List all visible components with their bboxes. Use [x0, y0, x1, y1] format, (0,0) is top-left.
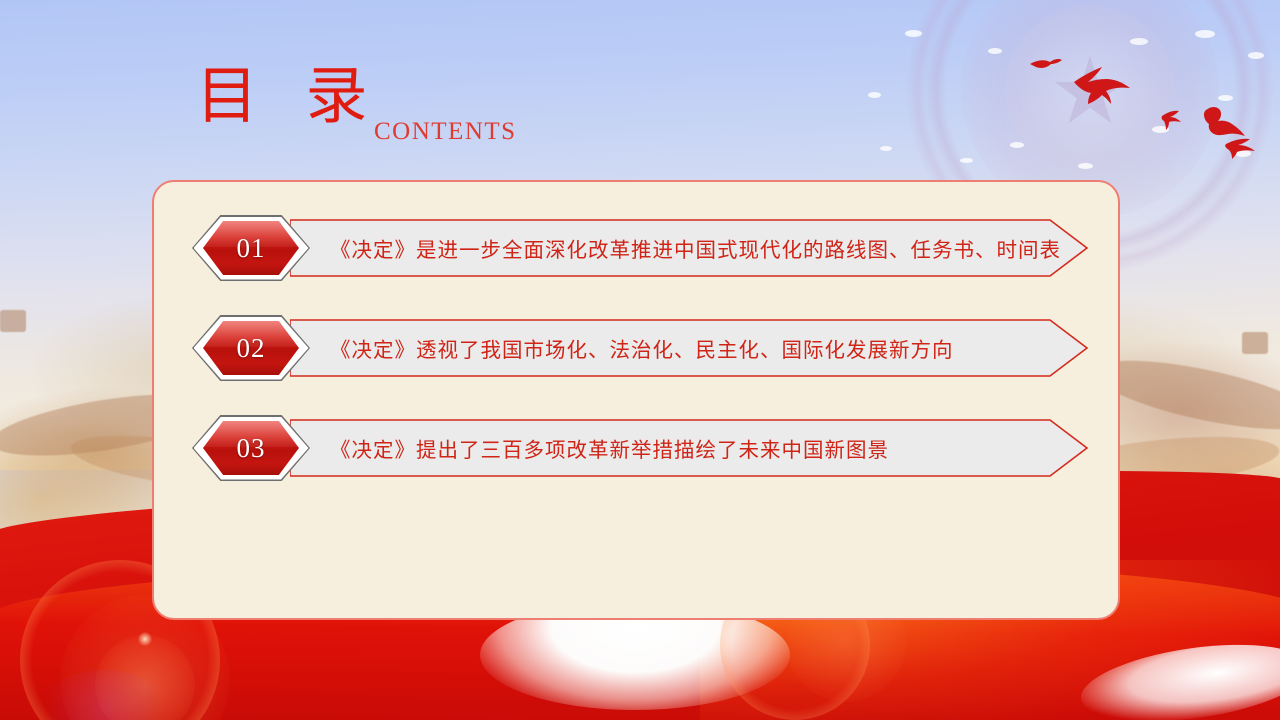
bird-icon: [1162, 111, 1181, 130]
lens-flare-violet: [40, 670, 170, 720]
presentation-slide: 目 录 CONTENTS 01 《决定》是进一步全面深化改革推进: [0, 0, 1280, 720]
item-number-badge: 01: [192, 215, 310, 281]
white-swoosh-highlight: [1076, 632, 1280, 720]
speckle-dot: [1152, 126, 1169, 133]
emblem-core-glow: [1005, 5, 1175, 175]
star-icon: [1053, 56, 1127, 130]
list-item[interactable]: 02 《决定》透视了我国市场化、法治化、民主化、国际化发展新方向: [192, 315, 1088, 381]
speckle-dot: [1235, 150, 1251, 157]
item-text: 《决定》是进一步全面深化改革推进中国式现代化的路线图、任务书、时间表: [330, 215, 1061, 281]
speckle-dot: [1130, 38, 1148, 45]
list-item[interactable]: 01 《决定》是进一步全面深化改革推进中国式现代化的路线图、任务书、时间表: [192, 215, 1088, 281]
item-number-badge: 03: [192, 415, 310, 481]
contents-list: 01 《决定》是进一步全面深化改革推进中国式现代化的路线图、任务书、时间表 02: [154, 182, 1118, 618]
speckle-dot: [868, 92, 881, 98]
item-text: 《决定》透视了我国市场化、法治化、民主化、国际化发展新方向: [330, 315, 954, 381]
speckle-dot: [1010, 142, 1024, 148]
speckle-dot: [905, 30, 922, 37]
bird-icon: [1204, 107, 1245, 136]
bird-icon: [1030, 59, 1062, 68]
watchtower: [1242, 332, 1268, 354]
item-number: 02: [192, 315, 310, 381]
lens-flare-disc: [95, 635, 195, 720]
speckle-dot: [880, 146, 892, 151]
speckle-dot: [1078, 163, 1093, 169]
speckle-dot: [988, 48, 1002, 54]
contents-card: 01 《决定》是进一步全面深化改革推进中国式现代化的路线图、任务书、时间表 02: [152, 180, 1120, 620]
page-title-block: 目 录 CONTENTS: [196, 66, 384, 128]
speckle-dot: [1248, 52, 1264, 59]
bird-icon: [1225, 139, 1255, 159]
page-subtitle: CONTENTS: [374, 118, 517, 146]
item-number-badge: 02: [192, 315, 310, 381]
speckle-dot: [1195, 30, 1215, 38]
flying-birds-group: [1010, 50, 1272, 172]
bird-icon: [1074, 67, 1130, 104]
item-text: 《决定》提出了三百多项改革新举措描绘了未来中国新图景: [330, 415, 889, 481]
watchtower: [0, 310, 26, 332]
list-item[interactable]: 03 《决定》提出了三百多项改革新举措描绘了未来中国新图景: [192, 415, 1088, 481]
item-number: 03: [192, 415, 310, 481]
speckle-dot: [1218, 95, 1233, 101]
lens-flare-spark: [138, 632, 152, 646]
speckle-dot: [960, 158, 973, 163]
page-title: 目 录: [196, 66, 384, 128]
item-number: 01: [192, 215, 310, 281]
